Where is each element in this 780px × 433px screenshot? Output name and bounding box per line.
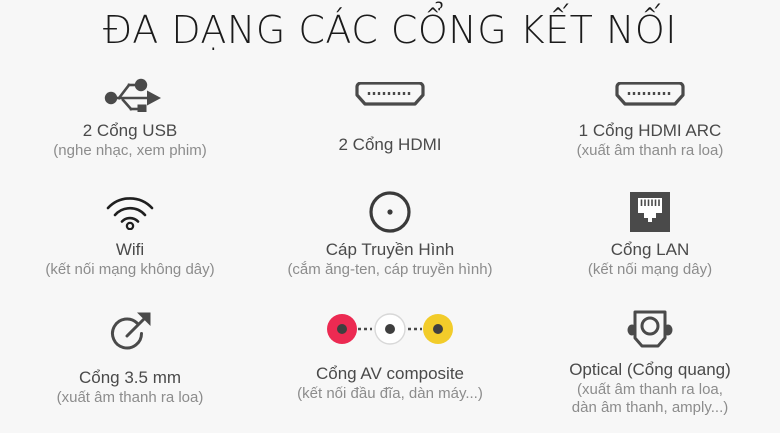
feature-label: 2 Cổng USB [83, 120, 178, 142]
feature-label: Cổng LAN [611, 239, 689, 261]
feature-label: Cáp Truyền Hình [326, 239, 455, 261]
feature-cell-optical: Optical (Cổng quang) (xuất âm thanh ra l… [520, 305, 780, 433]
feature-sublabel: (kết nối mạng không dây) [45, 261, 214, 280]
usb-icon [99, 74, 161, 116]
feature-cell-wifi: Wifi (kết nối mạng không dây) [0, 187, 260, 305]
feature-sublabel: (kết nối mạng dây) [588, 261, 712, 280]
feature-sublabel: (nghe nhạc, xem phim) [53, 142, 206, 161]
headphone-jack-arrow-icon [107, 307, 153, 357]
feature-cell-usb: 2 Cổng USB (nghe nhạc, xem phim) [0, 72, 260, 187]
feature-sublabel-block: (xuất âm thanh ra loa, dàn âm thanh, amp… [572, 381, 728, 418]
feature-sublabel: (cắm ăng-ten, cáp truyền hình) [287, 261, 492, 280]
feature-cell-lan: Cổng LAN (kết nối mạng dây) [520, 187, 780, 305]
hdmi-port-icon [353, 74, 427, 116]
feature-sublabel: (xuất âm thanh ra loa) [577, 142, 724, 161]
wifi-icon [104, 189, 156, 235]
feature-label: 2 Cổng HDMI [339, 134, 442, 156]
feature-cell-av: Cổng AV composite (kết nối đầu đĩa, dàn … [260, 305, 520, 433]
feature-sublabel-line: dàn âm thanh, amply...) [572, 399, 728, 418]
page-title: ĐA DẠNG CÁC CỔNG KẾT NỐI [0, 8, 780, 52]
feature-label: Optical (Cổng quang) [569, 359, 731, 381]
feature-sublabel-line: (xuất âm thanh ra loa, [577, 381, 723, 400]
connectivity-infographic: ĐA DẠNG CÁC CỔNG KẾT NỐI [0, 0, 780, 433]
feature-grid: 2 Cổng USB (nghe nhạc, xem phim) [0, 72, 780, 433]
feature-label: Cổng AV composite [316, 363, 464, 385]
feature-cell-coaxial: Cáp Truyền Hình (cắm ăng-ten, cáp truyền… [260, 187, 520, 305]
feature-cell-hdmi-arc: 1 Cổng HDMI ARC (xuất âm thanh ra loa) [520, 72, 780, 187]
feature-sublabel: (xuất âm thanh ra loa) [57, 389, 204, 408]
lan-ethernet-icon [629, 189, 671, 235]
feature-label: 1 Cổng HDMI ARC [579, 120, 722, 142]
coaxial-antenna-icon [367, 189, 413, 235]
feature-cell-hdmi: 2 Cổng HDMI [260, 72, 520, 187]
optical-toslink-icon [624, 307, 676, 357]
feature-sublabel: (kết nối đầu đĩa, dàn máy...) [297, 385, 483, 404]
feature-cell-jack: Cổng 3.5 mm (xuất âm thanh ra loa) [0, 305, 260, 433]
av-composite-rca-icon [325, 307, 455, 351]
feature-label: Cổng 3.5 mm [79, 367, 181, 389]
hdmi-arc-port-icon [613, 74, 687, 116]
feature-label: Wifi [116, 239, 144, 261]
